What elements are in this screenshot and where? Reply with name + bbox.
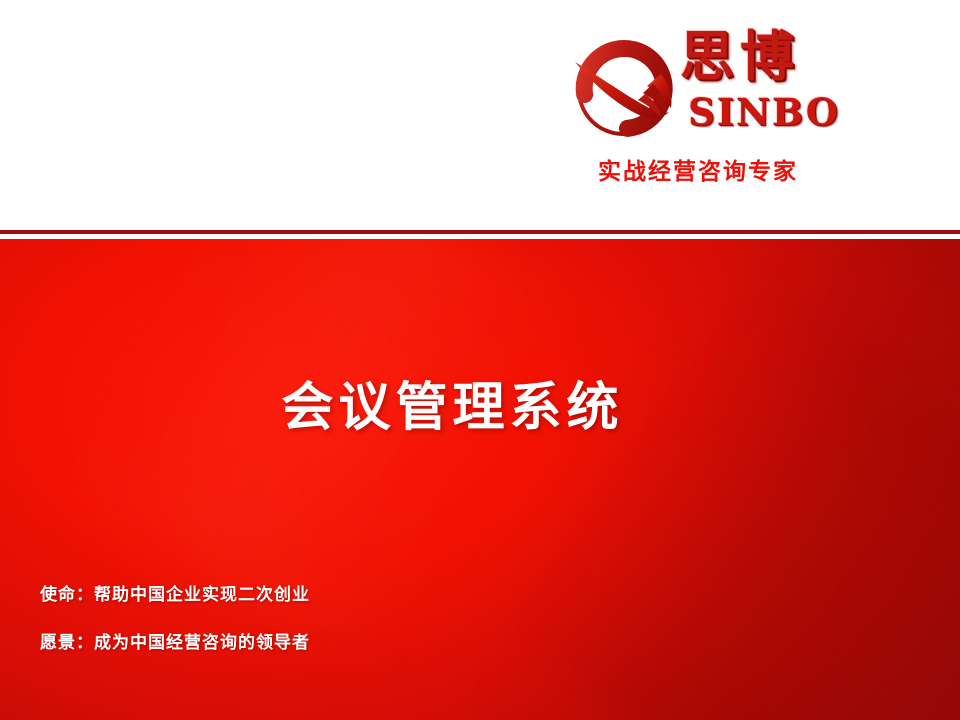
vision-statement: 愿景：成为中国经营咨询的领导者	[40, 635, 560, 652]
company-tagline: 实战经营咨询专家	[598, 161, 798, 184]
sinbo-bird-circle-logo-icon	[565, 32, 683, 144]
slide-body-panel: 会议管理系统 使命：帮助中国企业实现二次创业 愿景：成为中国经营咨询的领导者	[0, 239, 960, 720]
page-title: 会议管理系统	[0, 382, 905, 434]
slide-header: 思博 SINBO 实战经营咨询专家	[0, 0, 960, 231]
logo-english-name: SINBO	[688, 94, 840, 131]
brand-block: 思博 SINBO 实战经营咨询专家	[560, 28, 860, 198]
mission-statement: 使命：帮助中国企业实现二次创业	[40, 587, 560, 604]
statements-block: 使命：帮助中国企业实现二次创业 愿景：成为中国经营咨询的领导者	[40, 587, 560, 652]
logo-chinese-name: 思博	[680, 30, 800, 84]
presentation-slide: 思博 SINBO 实战经营咨询专家 会议管理系统 使命：帮助中国企业实现二次创业…	[0, 0, 960, 720]
company-logo: 思博 SINBO	[560, 28, 860, 143]
